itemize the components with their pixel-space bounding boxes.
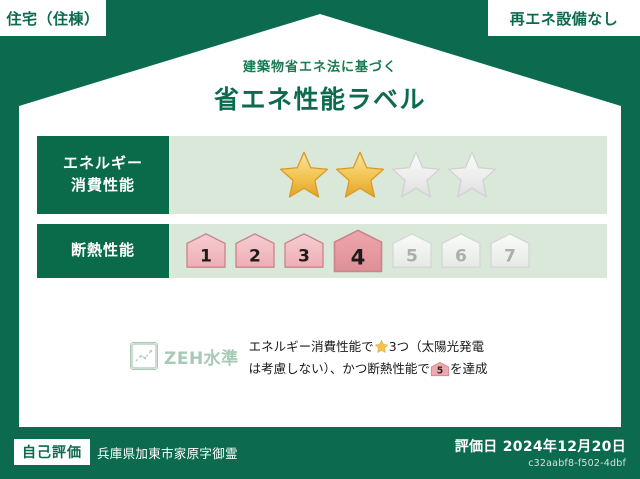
insulation-badge-number: 3 (298, 246, 310, 266)
description-line-2: は考慮しない）、かつ断熱性能で5を達成 (249, 358, 488, 380)
performance-rows: エネルギー 消費性能 断熱性能 1234567 (37, 136, 607, 288)
self-evaluation-badge: 自己評価 (14, 439, 90, 465)
zeh-standard-mark: ZEH水準 (130, 336, 239, 370)
insulation-badge-number: 1 (200, 246, 212, 266)
evaluation-date: 評価日 2024年12月20日 (455, 436, 626, 456)
title-block: 建築物省エネ法に基づく 省エネ性能ラベル (0, 56, 640, 116)
insulation-badge-number: 4 (351, 244, 366, 269)
property-address: 兵庫県加東市家原字御霊 (97, 443, 238, 462)
description-line1-post: （太陽光発電 (409, 339, 484, 354)
row-energy-performance: エネルギー 消費性能 (37, 136, 607, 214)
insulation-badge-inactive: 5 (389, 232, 435, 270)
insulation-badge-inactive: 6 (438, 232, 484, 270)
star-rating (169, 136, 607, 214)
inline-star-icon (374, 339, 389, 354)
insulation-level-scale: 1234567 (169, 224, 607, 278)
star-empty-icon (390, 149, 442, 201)
insulation-badge-active: 3 (281, 232, 327, 270)
insulation-badge-active: 1 (183, 232, 229, 270)
star-filled-icon (334, 149, 386, 201)
inline-level-badge-icon: 5 (430, 361, 450, 377)
description-line1-count: 3つ (389, 339, 409, 354)
star-empty-icon (446, 149, 498, 201)
star-filled-icon (278, 149, 330, 201)
achievement-description: エネルギー消費性能で3つ（太陽光発電 は考慮しない）、かつ断熱性能で5を達成 (249, 336, 488, 380)
footer-right: 評価日 2024年12月20日 c32aabf8-f502-4dbf (455, 436, 626, 469)
row-label-energy-line2: 消費性能 (71, 175, 135, 197)
zeh-chart-icon (130, 342, 158, 370)
insulation-badge-number: 7 (504, 246, 516, 266)
tag-building-type: 住宅（住棟） (0, 0, 106, 36)
evaluation-id: c32aabf8-f502-4dbf (455, 458, 626, 469)
insulation-badge-number: 5 (406, 246, 418, 266)
zeh-and-description: ZEH水準 エネルギー消費性能で3つ（太陽光発電 は考慮しない）、かつ断熱性能で… (130, 336, 560, 380)
svg-text:5: 5 (437, 366, 444, 377)
row-label-insulation: 断熱性能 (37, 224, 169, 278)
insulation-badge-number: 6 (455, 246, 467, 266)
footer-left: 自己評価 兵庫県加東市家原字御霊 (14, 439, 238, 465)
description-line2-pre: は考慮しない）、かつ断熱性能で (249, 361, 430, 376)
description-line2-post: を達成 (450, 361, 488, 376)
description-line-1: エネルギー消費性能で3つ（太陽光発電 (249, 336, 488, 358)
row-label-energy: エネルギー 消費性能 (37, 136, 169, 214)
insulation-badge-achieved: 4 (330, 228, 386, 275)
insulation-badge-inactive: 7 (487, 232, 533, 270)
page-title: 省エネ性能ラベル (0, 80, 640, 116)
tag-renewable-energy: 再エネ設備なし (488, 0, 640, 36)
title-subtitle: 建築物省エネ法に基づく (0, 56, 640, 75)
insulation-badge-active: 2 (232, 232, 278, 270)
zeh-label: ZEH水準 (164, 344, 239, 369)
insulation-badge-number: 2 (249, 246, 261, 266)
row-insulation-performance: 断熱性能 1234567 (37, 224, 607, 278)
row-label-energy-line1: エネルギー (63, 153, 143, 175)
row-label-insulation-line1: 断熱性能 (71, 240, 135, 262)
energy-performance-label: 住宅（住棟） 再エネ設備なし 建築物省エネ法に基づく 省エネ性能ラベル エネルギ… (0, 0, 640, 479)
footer: 自己評価 兵庫県加東市家原字御霊 評価日 2024年12月20日 c32aabf… (0, 427, 640, 479)
description-line1-pre: エネルギー消費性能で (249, 339, 374, 354)
